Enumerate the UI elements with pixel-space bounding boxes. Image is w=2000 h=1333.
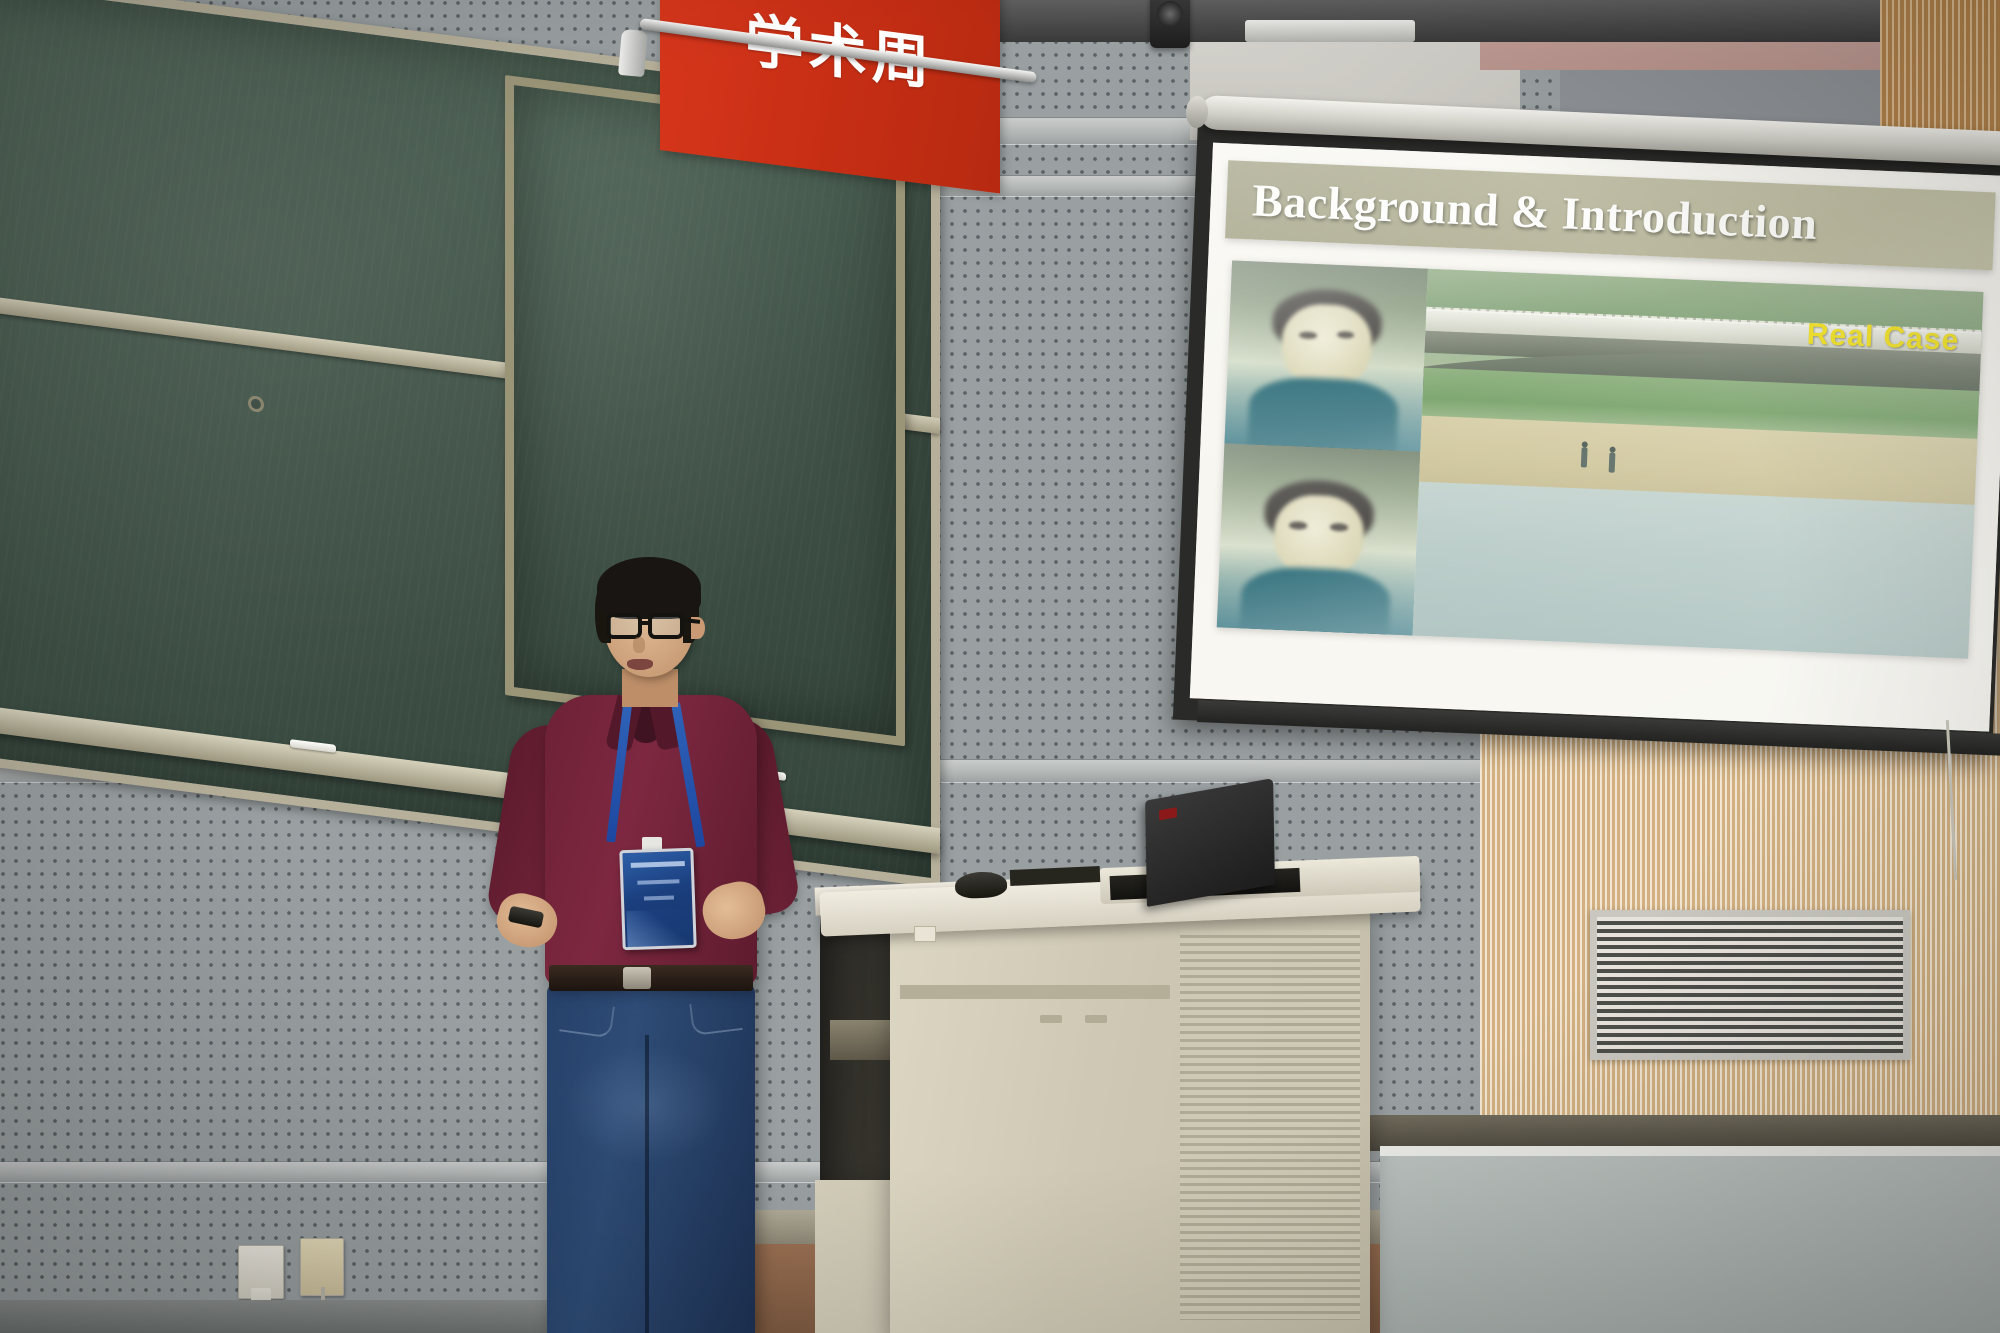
slide-title-bar: Background & Introduction [1225, 160, 1996, 270]
glasses-lens-left [606, 613, 642, 639]
stage-edge [1380, 1146, 2000, 1156]
wall-outlet-a[interactable] [238, 1245, 284, 1299]
podium-vent-panel [1180, 930, 1360, 1320]
hvac-vent-grille [1590, 910, 1910, 1060]
laptop-lid[interactable] [1145, 778, 1275, 907]
badge-text-line [631, 861, 685, 868]
slide-title: Background & Introduction [1251, 173, 1818, 250]
jeans-pocket [689, 998, 743, 1036]
ceiling-speaker [1150, 0, 1190, 48]
surveillance-face-photo-2 [1217, 444, 1420, 636]
person-figure [1608, 452, 1615, 472]
nose [633, 637, 645, 653]
ceiling-beam [960, 0, 2000, 42]
badge-text-line [644, 895, 674, 900]
podium-asset-label [914, 926, 936, 942]
laptop-logo [1159, 807, 1177, 820]
projection-haze [1224, 260, 1427, 452]
glasses-bridge [642, 621, 650, 625]
ceiling-light-fixture [1245, 20, 1415, 42]
projection-screen: Background & Introduction [1173, 120, 2000, 754]
jeans-seam [645, 1035, 649, 1333]
presenter [505, 565, 805, 1333]
surveillance-face-photo-1 [1224, 260, 1427, 452]
lecture-hall-scene: 学术周 Background & Introduction [0, 0, 2000, 1333]
badge-text-line [637, 879, 679, 884]
screen-canvas: Background & Introduction [1190, 143, 2000, 732]
hair [597, 557, 701, 619]
presentation-slide: Background & Introduction [1190, 143, 2000, 732]
curtain-rail-elbow [618, 29, 648, 77]
glasses-lens-right [648, 613, 684, 639]
wall-outlet-b[interactable] [300, 1238, 344, 1296]
stage-platform [1380, 1152, 2000, 1333]
projection-haze [1217, 444, 1420, 636]
slide-figure: Real Case [1217, 260, 1984, 658]
face-photo-column [1217, 260, 1428, 635]
conference-badge [619, 848, 696, 951]
podium-drawer[interactable] [900, 985, 1170, 999]
podium-knob[interactable] [1040, 1015, 1062, 1023]
belt-buckle [623, 967, 651, 989]
podium-knob[interactable] [1085, 1015, 1107, 1023]
person-figure [1581, 448, 1588, 468]
river-water [1412, 481, 1974, 658]
belt [549, 965, 753, 991]
badge-graphic [626, 909, 695, 949]
riverbank-scene-photo: Real Case [1412, 268, 1983, 658]
mouth [627, 659, 653, 670]
real-case-annotation: Real Case [1806, 317, 1960, 357]
banner-text: 学术周 [660, 0, 1000, 117]
